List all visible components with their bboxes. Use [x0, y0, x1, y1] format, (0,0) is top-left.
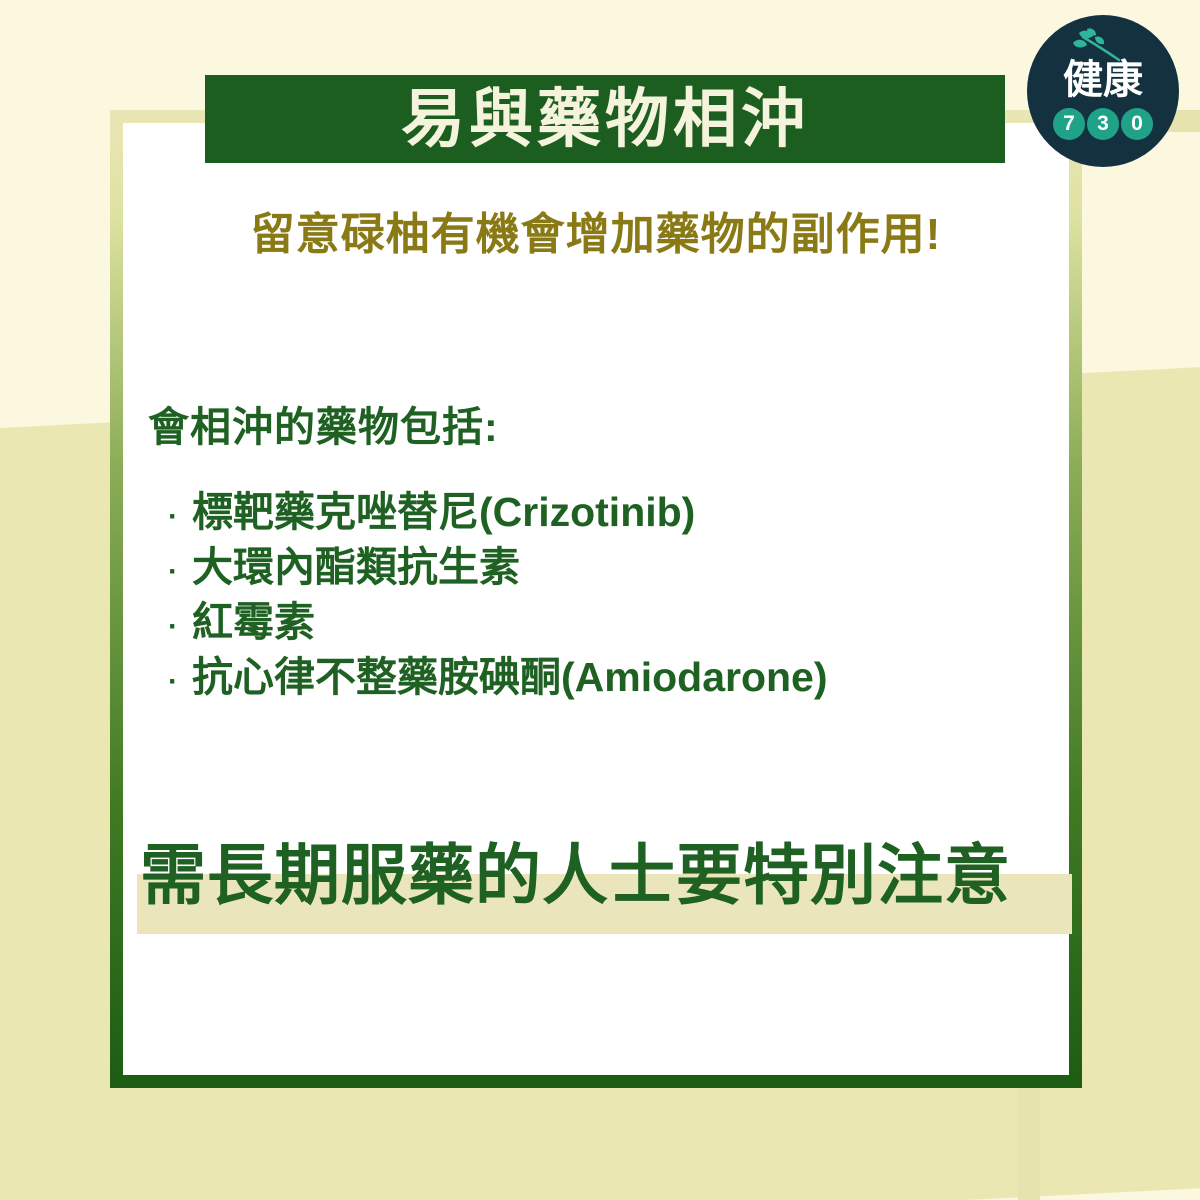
list-item-label: 紅霉素 — [192, 597, 315, 647]
list-item: · 標靶藥克唑替尼(Crizotinib) — [168, 487, 828, 542]
title-bar: 易與藥物相沖 — [205, 75, 1005, 163]
infographic-page: 易與藥物相沖 留意碌柚有機會增加藥物的副作用! 會相沖的藥物包括: · 標靶藥克… — [0, 0, 1200, 1200]
logo-digit-3: 3 — [1087, 108, 1119, 140]
brand-logo[interactable]: 健康 7 3 0 — [1027, 15, 1179, 167]
list-item: · 大環內酯類抗生素 — [168, 542, 828, 597]
bullet-dot-icon: · — [168, 492, 192, 542]
page-title: 易與藥物相沖 — [401, 87, 809, 151]
list-item: · 紅霉素 — [168, 597, 828, 652]
logo-digit-0: 0 — [1121, 108, 1153, 140]
list-item-label: 抗心律不整藥胺碘酮(Amiodarone) — [192, 652, 828, 702]
subtitle: 留意碌柚有機會增加藥物的副作用! — [110, 198, 1082, 262]
list-item-label: 標靶藥克唑替尼(Crizotinib) — [192, 487, 695, 537]
bullet-dot-icon: · — [168, 657, 192, 707]
logo-digit-7: 7 — [1053, 108, 1085, 140]
drug-interaction-list: · 標靶藥克唑替尼(Crizotinib) · 大環內酯類抗生素 · 紅霉素 ·… — [168, 487, 828, 707]
bullet-dot-icon: · — [168, 547, 192, 597]
lead-text: 會相沖的藥物包括: — [148, 393, 499, 453]
logo-digits: 7 3 0 — [1027, 108, 1179, 140]
bullet-dot-icon: · — [168, 602, 192, 652]
footnote-text: 需長期服藥的人士要特別注意 — [140, 835, 1080, 915]
logo-wordmark: 健康 — [1027, 59, 1179, 101]
list-item: · 抗心律不整藥胺碘酮(Amiodarone) — [168, 652, 828, 707]
list-item-label: 大環內酯類抗生素 — [192, 542, 520, 592]
